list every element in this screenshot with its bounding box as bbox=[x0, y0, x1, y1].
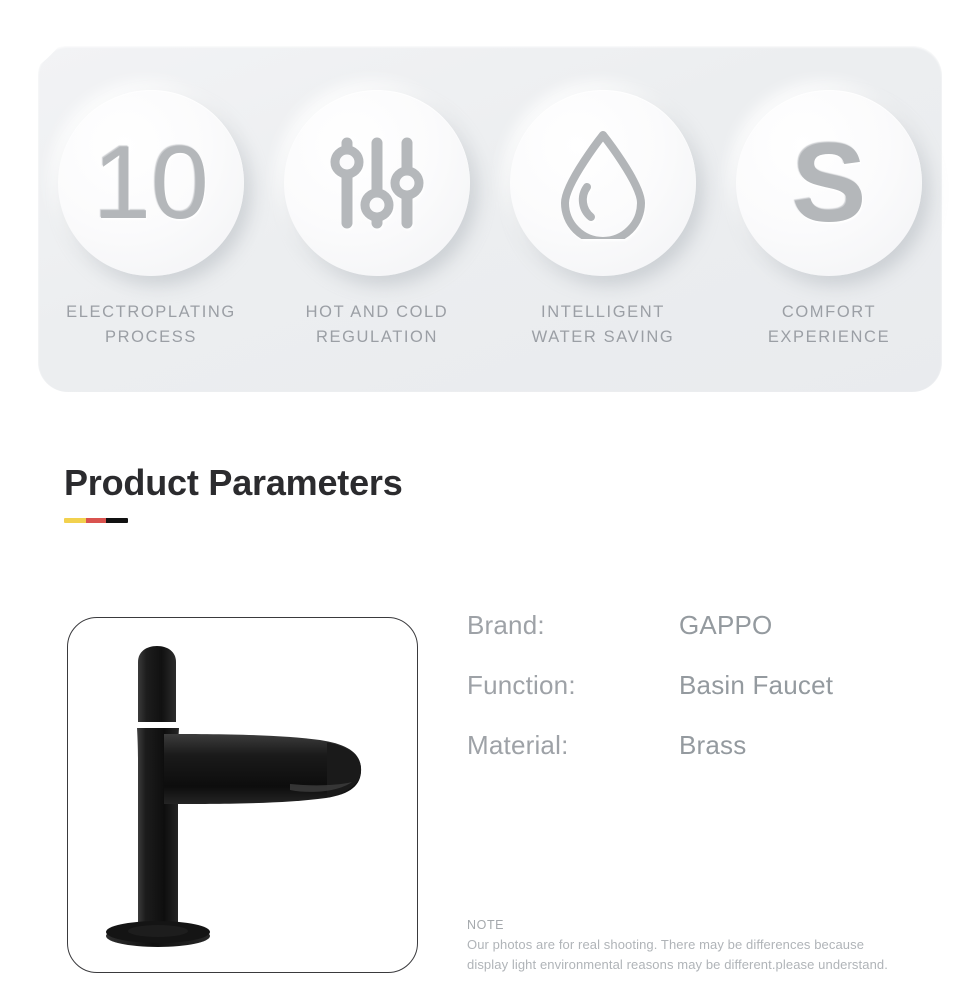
note-title: NOTE bbox=[467, 918, 947, 932]
accent-segment-red bbox=[86, 518, 106, 523]
letter-s-icon: S bbox=[792, 127, 867, 239]
spec-row-function: Function: Basin Faucet bbox=[467, 670, 937, 730]
feature-circle bbox=[510, 90, 696, 276]
faucet-product-image bbox=[68, 618, 417, 972]
spec-value: Basin Faucet bbox=[679, 670, 833, 701]
feature-circle bbox=[284, 90, 470, 276]
spec-row-brand: Brand: GAPPO bbox=[467, 610, 937, 670]
feature-label: ELECTROPLATING PROCESS bbox=[66, 300, 236, 350]
spec-key: Function: bbox=[467, 670, 679, 701]
feature-comfort-experience: S COMFORT EXPERIENCE bbox=[723, 90, 935, 350]
feature-label: COMFORT EXPERIENCE bbox=[768, 300, 890, 350]
accent-underline bbox=[64, 518, 128, 523]
product-specs-list: Brand: GAPPO Function: Basin Faucet Mate… bbox=[467, 610, 937, 790]
accent-segment-black bbox=[106, 518, 128, 523]
spec-row-material: Material: Brass bbox=[467, 730, 937, 790]
number-10-icon: 10 bbox=[93, 131, 209, 235]
feature-label: INTELLIGENT WATER SAVING bbox=[532, 300, 675, 350]
spec-key: Brand: bbox=[467, 610, 679, 641]
features-row: 10 ELECTROPLATING PROCESS bbox=[38, 46, 942, 392]
features-card: 10 ELECTROPLATING PROCESS bbox=[38, 46, 942, 392]
spec-key: Material: bbox=[467, 730, 679, 761]
feature-circle: 10 bbox=[58, 90, 244, 276]
feature-electroplating-process: 10 ELECTROPLATING PROCESS bbox=[45, 90, 257, 350]
feature-circle: S bbox=[736, 90, 922, 276]
accent-segment-yellow bbox=[64, 518, 86, 523]
water-drop-icon bbox=[557, 127, 649, 239]
sliders-icon bbox=[325, 131, 429, 235]
feature-intelligent-water-saving: INTELLIGENT WATER SAVING bbox=[497, 90, 709, 350]
feature-label: HOT AND COLD REGULATION bbox=[306, 300, 449, 350]
page-title: Product Parameters bbox=[64, 462, 403, 504]
product-image-frame bbox=[67, 617, 418, 973]
feature-hot-and-cold-regulation: HOT AND COLD REGULATION bbox=[271, 90, 483, 350]
note-block: NOTE Our photos are for real shooting. T… bbox=[467, 918, 947, 975]
note-line-2: display light environmental reasons may … bbox=[467, 955, 947, 975]
spec-value: GAPPO bbox=[679, 610, 772, 641]
note-line-1: Our photos are for real shooting. There … bbox=[467, 935, 947, 955]
spec-value: Brass bbox=[679, 730, 746, 761]
